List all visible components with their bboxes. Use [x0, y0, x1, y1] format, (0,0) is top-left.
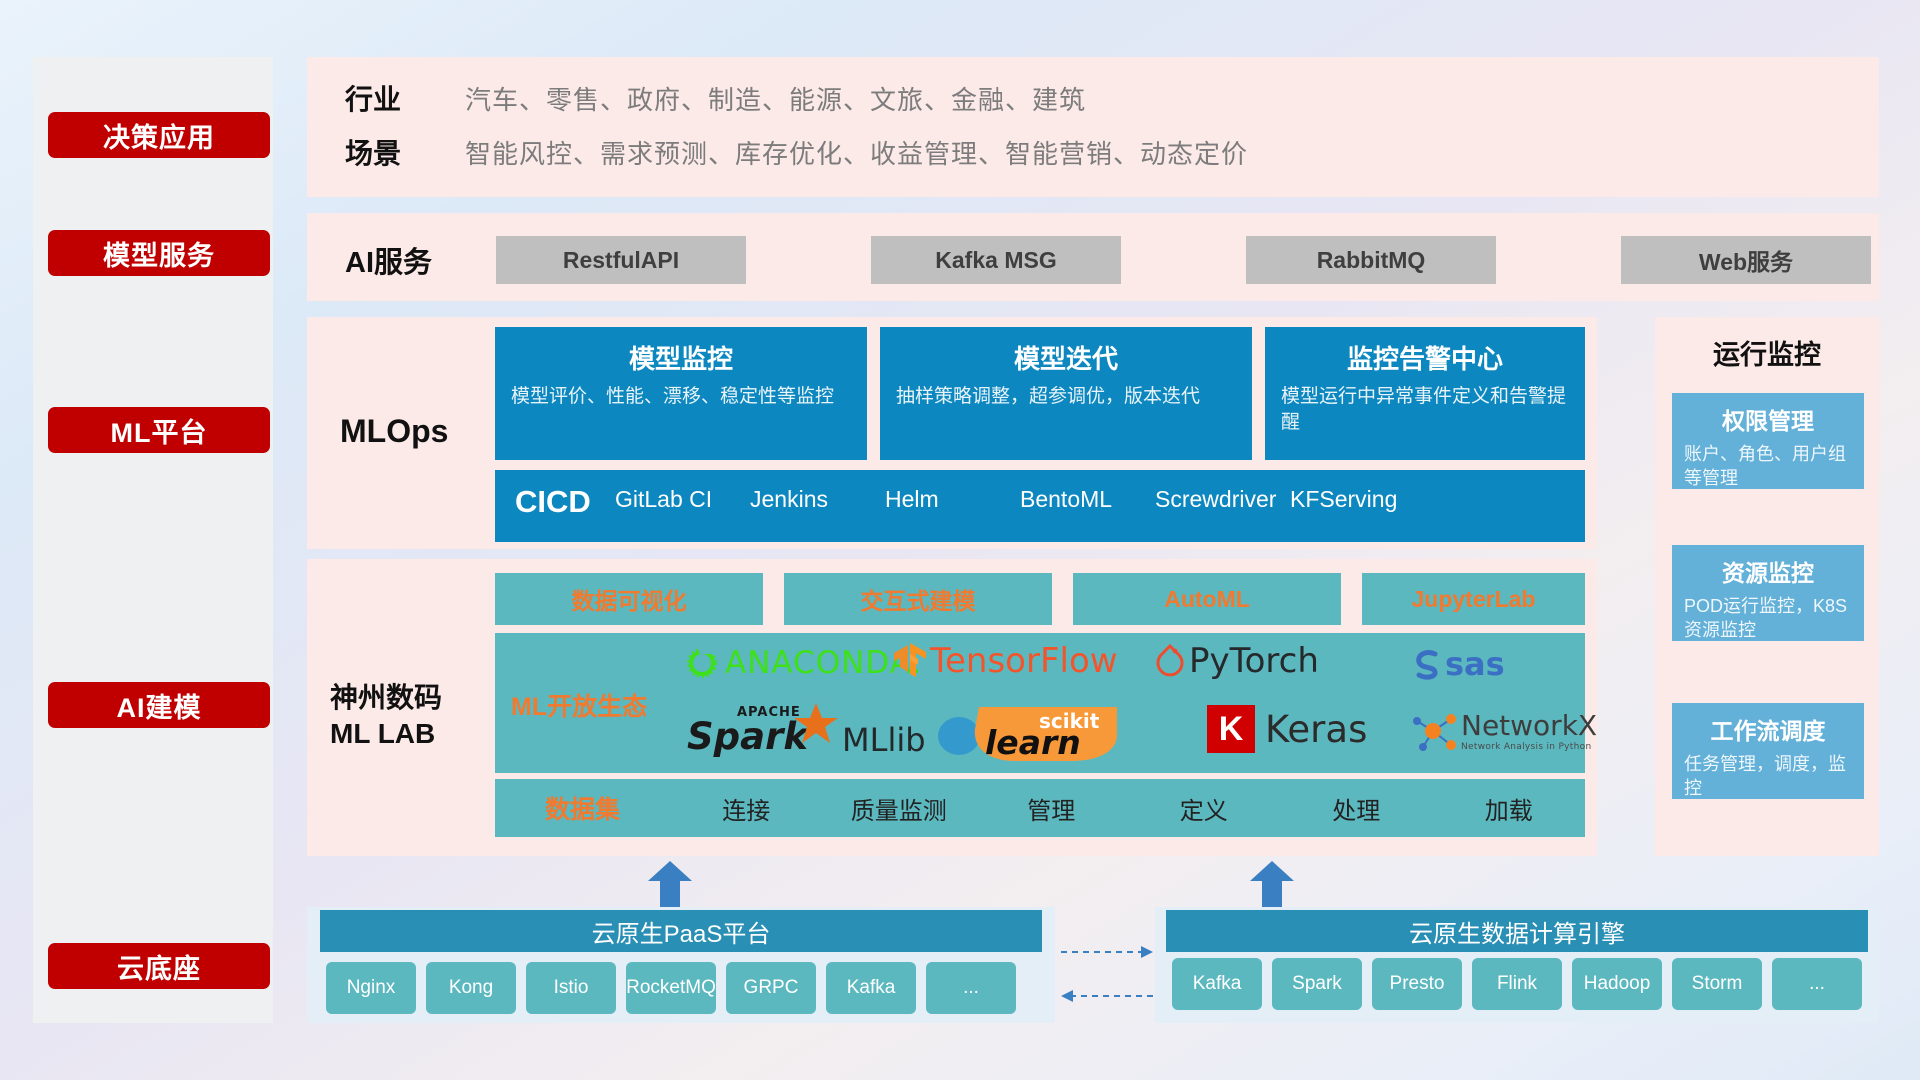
card-desc: 账户、角色、用户组等管理: [1684, 442, 1852, 491]
monitoring-card-resource[interactable]: 资源监控 POD运行监控，K8S资源监控: [1672, 545, 1864, 641]
spark-wordmark: Spark: [687, 715, 808, 758]
up-arrow-data-engine-icon: [1250, 861, 1294, 909]
chip-label: RocketMQ: [626, 978, 716, 999]
application-row-key: 场景: [345, 132, 465, 172]
dataset-item-connect[interactable]: 连接: [670, 791, 823, 826]
layer-tag-label: 决策应用: [103, 116, 215, 155]
spark-mllib-logo: APACHE Spark MLlib: [685, 703, 926, 763]
application-row-value: 汽车、零售、政府、制造、能源、文旅、金融、建筑: [465, 80, 1086, 117]
dataset-item-quality-monitoring[interactable]: 质量监测: [823, 791, 976, 826]
data-engine-chip-kafka[interactable]: Kafka: [1172, 958, 1262, 1010]
paas-chip-kafka[interactable]: Kafka: [826, 962, 916, 1014]
data-engine-title: 云原生数据计算引擎: [1166, 910, 1868, 952]
ml-ecosystem-label: ML开放生态: [511, 687, 647, 723]
chip-label: Spark: [1292, 974, 1342, 995]
layer-rail: [33, 57, 273, 1023]
networkx-tagline: Network Analysis in Python: [1461, 742, 1597, 752]
chip-label: AutoML: [1164, 586, 1250, 613]
layer-tag-label: ML平台: [111, 411, 208, 450]
cicd-item-screwdriver[interactable]: Screwdriver: [1155, 470, 1290, 512]
layer-tag-label: 云底座: [117, 947, 201, 986]
chip-label: Kafka: [1193, 974, 1242, 995]
tool-chip-jupyterlab[interactable]: JupyterLab: [1362, 573, 1585, 625]
tensorflow-wordmark: TensorFlow: [930, 641, 1118, 681]
chip-label: RabbitMQ: [1317, 247, 1426, 274]
mlops-label: MLOps: [340, 408, 448, 454]
scikit-learn-logo: scikit learn: [935, 705, 1121, 763]
monitoring-card-workflow[interactable]: 工作流调度 任务管理，调度，监控: [1672, 703, 1864, 799]
cicd-item-kfserving[interactable]: KFServing: [1290, 470, 1425, 512]
networkx-wordmark: NetworkX: [1461, 712, 1597, 740]
up-arrow-paas-icon: [648, 861, 692, 909]
paas-chip-rocketmq[interactable]: RocketMQ: [626, 962, 716, 1014]
pytorch-wordmark: PyTorch: [1189, 641, 1319, 681]
mlops-card-model-iteration[interactable]: 模型迭代 抽样策略调整，超参调优，版本迭代: [880, 327, 1252, 460]
data-engine-chip-spark[interactable]: Spark: [1272, 958, 1362, 1010]
card-desc: 模型评价、性能、漂移、稳定性等监控: [511, 384, 851, 410]
keras-wordmark: Keras: [1265, 708, 1367, 751]
ml-lab-label-line1: 神州数码: [330, 680, 490, 716]
sas-wordmark: sas: [1445, 645, 1505, 683]
chip-label: Presto: [1390, 974, 1445, 995]
card-title: 模型监控: [511, 339, 851, 376]
cicd-item-gitlab-ci[interactable]: GitLab CI: [615, 470, 750, 512]
cicd-item-jenkins[interactable]: Jenkins: [750, 470, 885, 512]
tensorflow-icon: [890, 641, 928, 681]
dataset-item-manage[interactable]: 管理: [975, 791, 1128, 826]
tensorflow-logo: TensorFlow: [890, 641, 1118, 681]
layer-tag-ai-modeling[interactable]: AI建模: [48, 682, 270, 728]
cicd-title: CICD: [495, 470, 615, 520]
chip-label: Kafka: [847, 978, 896, 999]
data-engine-chip-storm[interactable]: Storm: [1672, 958, 1762, 1010]
layer-tag-label: AI建模: [117, 686, 202, 725]
data-engine-chip-presto[interactable]: Presto: [1372, 958, 1462, 1010]
keras-mark-icon: K: [1207, 705, 1255, 753]
layer-tag-label: 模型服务: [103, 234, 215, 273]
sas-icon: [1410, 647, 1444, 681]
data-engine-title-label: 云原生数据计算引擎: [1409, 914, 1625, 949]
ai-service-label: AI服务: [345, 238, 432, 282]
chip-label: Istio: [554, 978, 589, 999]
chip-label: RestfulAPI: [563, 247, 679, 274]
networkx-logo: NetworkX Network Analysis in Python: [1407, 709, 1597, 755]
chip-label: Kong: [449, 978, 493, 999]
monitoring-card-permission[interactable]: 权限管理 账户、角色、用户组等管理: [1672, 393, 1864, 489]
application-row-key: 行业: [345, 78, 465, 118]
dataset-item-define[interactable]: 定义: [1128, 791, 1281, 826]
chip-label: Nginx: [347, 978, 396, 999]
mlops-card-model-monitoring[interactable]: 模型监控 模型评价、性能、漂移、稳定性等监控: [495, 327, 867, 460]
mlops-card-alert-center[interactable]: 监控告警中心 模型运行中异常事件定义和告警提醒: [1265, 327, 1585, 460]
chip-label: JupyterLab: [1412, 586, 1536, 613]
keras-logo: K Keras: [1207, 705, 1367, 753]
data-engine-chip-more[interactable]: ...: [1772, 958, 1862, 1010]
pytorch-logo: PyTorch: [1155, 641, 1319, 681]
keras-mark-letter: K: [1219, 710, 1244, 749]
chip-label: ...: [963, 978, 979, 999]
card-desc: POD运行监控，K8S资源监控: [1684, 594, 1852, 643]
learn-wordmark: learn: [985, 723, 1081, 762]
dataset-item-load[interactable]: 加载: [1433, 791, 1586, 826]
dataset-bar: 数据集 连接 质量监测 管理 定义 处理 加载: [495, 779, 1585, 837]
spark-star-icon: [793, 701, 839, 747]
ai-service-chip-web-service[interactable]: Web服务: [1621, 236, 1871, 284]
cicd-item-bentoml[interactable]: BentoML: [1020, 470, 1155, 512]
paas-chip-grpc[interactable]: GRPC: [726, 962, 816, 1014]
card-title: 模型迭代: [896, 339, 1236, 376]
architecture-diagram: 决策应用 模型服务 ML平台 AI建模 云底座 行业 汽车、零售、政府、制造、能…: [0, 0, 1920, 1080]
anaconda-logo: ANACONDA.: [685, 645, 922, 681]
networkx-graph-icon: [1407, 709, 1457, 755]
anaconda-icon: [685, 646, 719, 680]
data-engine-chip-flink[interactable]: Flink: [1472, 958, 1562, 1010]
application-row-industry: 行业 汽车、零售、政府、制造、能源、文旅、金融、建筑: [345, 78, 1086, 118]
connector-arrows: [1055, 940, 1155, 1010]
chip-label: Flink: [1497, 974, 1537, 995]
layer-tag-ml-platform[interactable]: ML平台: [48, 407, 270, 453]
card-title: 工作流调度: [1684, 712, 1852, 746]
layer-tag-decision-app[interactable]: 决策应用: [48, 112, 270, 158]
ai-service-chip-rabbitmq[interactable]: RabbitMQ: [1246, 236, 1496, 284]
tool-chip-automl[interactable]: AutoML: [1073, 573, 1341, 625]
ml-lab-label-line2: ML LAB: [330, 716, 490, 752]
dataset-label: 数据集: [495, 790, 670, 826]
card-title: 资源监控: [1684, 554, 1852, 588]
paas-chip-nginx[interactable]: Nginx: [326, 962, 416, 1014]
layer-tag-cloud-base[interactable]: 云底座: [48, 943, 270, 989]
ml-ecosystem-box: ML开放生态 ANACONDA. TensorFlow: [495, 633, 1585, 773]
chip-label: ...: [1809, 974, 1825, 995]
ai-service-chip-restfulapi[interactable]: RestfulAPI: [496, 236, 746, 284]
ml-lab-label: 神州数码 ML LAB: [330, 680, 490, 753]
layer-tag-model-service[interactable]: 模型服务: [48, 230, 270, 276]
chip-label: Kafka MSG: [935, 247, 1056, 274]
application-row-value: 智能风控、需求预测、库存优化、收益管理、智能营销、动态定价: [465, 134, 1248, 171]
cicd-item-helm[interactable]: Helm: [885, 470, 1020, 512]
tool-chip-interactive-modeling[interactable]: 交互式建模: [784, 573, 1052, 625]
card-desc: 抽样策略调整，超参调优，版本迭代: [896, 384, 1236, 410]
ai-service-chip-kafka-msg[interactable]: Kafka MSG: [871, 236, 1121, 284]
dataset-item-process[interactable]: 处理: [1280, 791, 1433, 826]
card-desc: 模型运行中异常事件定义和告警提醒: [1281, 384, 1569, 435]
cicd-bar: CICD GitLab CI Jenkins Helm BentoML Scre…: [495, 470, 1585, 542]
sas-logo: sas: [1410, 645, 1505, 683]
paas-chip-kong[interactable]: Kong: [426, 962, 516, 1014]
paas-title-label: 云原生PaaS平台: [592, 914, 771, 949]
chip-label: GRPC: [744, 978, 799, 999]
paas-chip-more[interactable]: ...: [926, 962, 1016, 1014]
chip-label: 交互式建模: [861, 582, 976, 616]
monitoring-title: 运行监控: [1655, 333, 1879, 372]
data-engine-chip-hadoop[interactable]: Hadoop: [1572, 958, 1662, 1010]
paas-chip-istio[interactable]: Istio: [526, 962, 616, 1014]
tool-chip-data-visualization[interactable]: 数据可视化: [495, 573, 763, 625]
chip-label: 数据可视化: [572, 582, 687, 616]
card-title: 权限管理: [1684, 402, 1852, 436]
chip-label: Storm: [1692, 974, 1743, 995]
paas-title: 云原生PaaS平台: [320, 910, 1042, 952]
card-desc: 任务管理，调度，监控: [1684, 752, 1852, 801]
chip-label: Web服务: [1699, 243, 1793, 277]
card-title: 监控告警中心: [1281, 339, 1569, 376]
pytorch-icon: [1155, 643, 1185, 679]
application-row-scenario: 场景 智能风控、需求预测、库存优化、收益管理、智能营销、动态定价: [345, 132, 1248, 172]
chip-label: Hadoop: [1584, 974, 1651, 995]
